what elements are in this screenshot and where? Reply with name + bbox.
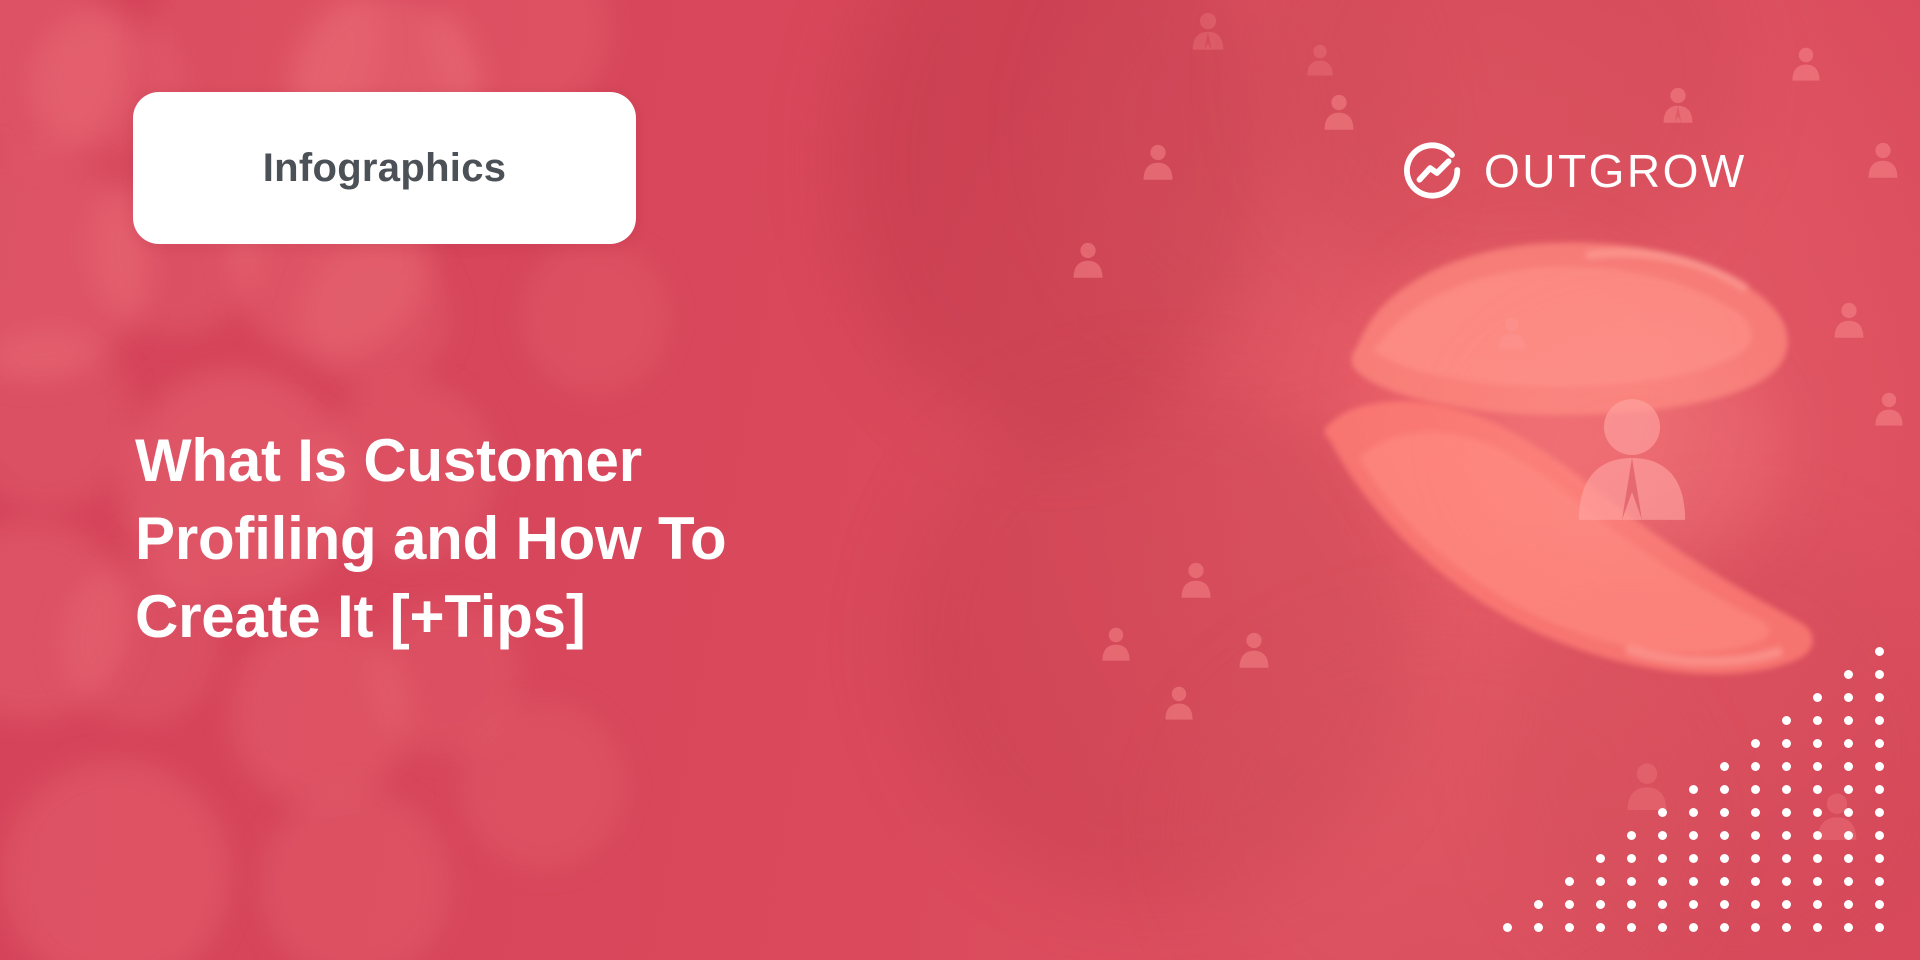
dot [1844, 762, 1853, 771]
dot [1658, 923, 1667, 932]
dot [1844, 808, 1853, 817]
person-icon [1071, 240, 1105, 278]
dot [1844, 716, 1853, 725]
dot [1844, 670, 1853, 679]
headline-line-3: Create It [+Tips] [135, 583, 586, 650]
person-icon [1873, 390, 1905, 426]
dot [1720, 923, 1729, 932]
dot [1720, 785, 1729, 794]
dot [1751, 785, 1760, 794]
dot [1596, 923, 1605, 932]
dot [1875, 877, 1884, 886]
dot [1689, 808, 1698, 817]
person-icon [1866, 140, 1900, 178]
outgrow-logo[interactable]: OUTGROW [1404, 140, 1747, 202]
dot [1658, 808, 1667, 817]
person-icon [1141, 142, 1175, 180]
dot [1627, 831, 1636, 840]
dot [1844, 900, 1853, 909]
person-icon [1322, 92, 1356, 130]
dot [1875, 670, 1884, 679]
dot [1720, 808, 1729, 817]
dot [1658, 854, 1667, 863]
person-icon-large [1573, 390, 1691, 520]
dot [1813, 762, 1822, 771]
dot [1813, 877, 1822, 886]
dot [1782, 716, 1791, 725]
person-icon [1790, 45, 1822, 81]
dot [1813, 808, 1822, 817]
dot [1875, 831, 1884, 840]
dot [1844, 831, 1853, 840]
dot [1689, 854, 1698, 863]
dot [1844, 854, 1853, 863]
category-badge-label: Infographics [263, 146, 507, 191]
dot [1875, 900, 1884, 909]
dot [1782, 808, 1791, 817]
dot [1813, 854, 1822, 863]
dotted-triangle [1503, 647, 1884, 932]
dot [1689, 900, 1698, 909]
dot [1782, 785, 1791, 794]
dot [1782, 923, 1791, 932]
dot [1875, 762, 1884, 771]
person-icon [1237, 630, 1271, 668]
dot [1534, 923, 1543, 932]
person-icon [1497, 315, 1527, 349]
headline-line-2: Profiling and How To [135, 505, 727, 572]
dot [1503, 923, 1512, 932]
dot [1751, 831, 1760, 840]
dot [1875, 716, 1884, 725]
dot [1658, 900, 1667, 909]
dot [1813, 923, 1822, 932]
dot [1782, 877, 1791, 886]
dot [1720, 831, 1729, 840]
dot [1782, 854, 1791, 863]
category-badge[interactable]: Infographics [133, 92, 636, 244]
dot [1813, 739, 1822, 748]
dot [1875, 854, 1884, 863]
dot [1596, 900, 1605, 909]
dot [1596, 877, 1605, 886]
dot [1782, 831, 1791, 840]
person-icon [1305, 42, 1335, 76]
person-icon [1661, 85, 1695, 123]
infographic-banner: Infographics What Is Customer Profiling … [0, 0, 1920, 960]
dot [1782, 762, 1791, 771]
dot [1813, 785, 1822, 794]
dot [1875, 808, 1884, 817]
dot [1782, 739, 1791, 748]
dot [1689, 831, 1698, 840]
dot [1658, 877, 1667, 886]
dot [1875, 785, 1884, 794]
page-title: What Is Customer Profiling and How To Cr… [135, 422, 895, 656]
dot [1627, 900, 1636, 909]
person-icon [1832, 300, 1866, 338]
dot [1596, 854, 1605, 863]
dot [1813, 693, 1822, 702]
dot [1751, 854, 1760, 863]
dot [1813, 716, 1822, 725]
dot [1751, 923, 1760, 932]
dot [1751, 877, 1760, 886]
person-icon [1190, 10, 1226, 50]
dot [1875, 693, 1884, 702]
dot [1844, 739, 1853, 748]
headline-line-1: What Is Customer [135, 427, 642, 494]
dot [1844, 785, 1853, 794]
person-icon [1163, 684, 1195, 720]
dot [1875, 739, 1884, 748]
dot [1565, 877, 1574, 886]
dot [1689, 877, 1698, 886]
dot [1689, 923, 1698, 932]
dot [1844, 923, 1853, 932]
dot [1565, 923, 1574, 932]
outgrow-circle-mark-icon [1404, 140, 1466, 202]
dot [1627, 923, 1636, 932]
dot [1627, 877, 1636, 886]
dot [1658, 831, 1667, 840]
dot [1720, 762, 1729, 771]
dot [1844, 693, 1853, 702]
outgrow-wordmark: OUTGROW [1484, 144, 1747, 198]
person-icon [1100, 625, 1132, 661]
dot [1751, 900, 1760, 909]
person-icon [1179, 560, 1213, 598]
dot [1720, 854, 1729, 863]
dot [1720, 900, 1729, 909]
dot [1534, 900, 1543, 909]
dot [1875, 923, 1884, 932]
dot [1751, 739, 1760, 748]
dot [1689, 785, 1698, 794]
dot [1875, 647, 1884, 656]
dot [1751, 808, 1760, 817]
dot [1844, 877, 1853, 886]
dot [1751, 762, 1760, 771]
dot [1627, 854, 1636, 863]
dot [1782, 900, 1791, 909]
dot [1813, 831, 1822, 840]
dot [1720, 877, 1729, 886]
dot [1813, 900, 1822, 909]
dot [1565, 900, 1574, 909]
